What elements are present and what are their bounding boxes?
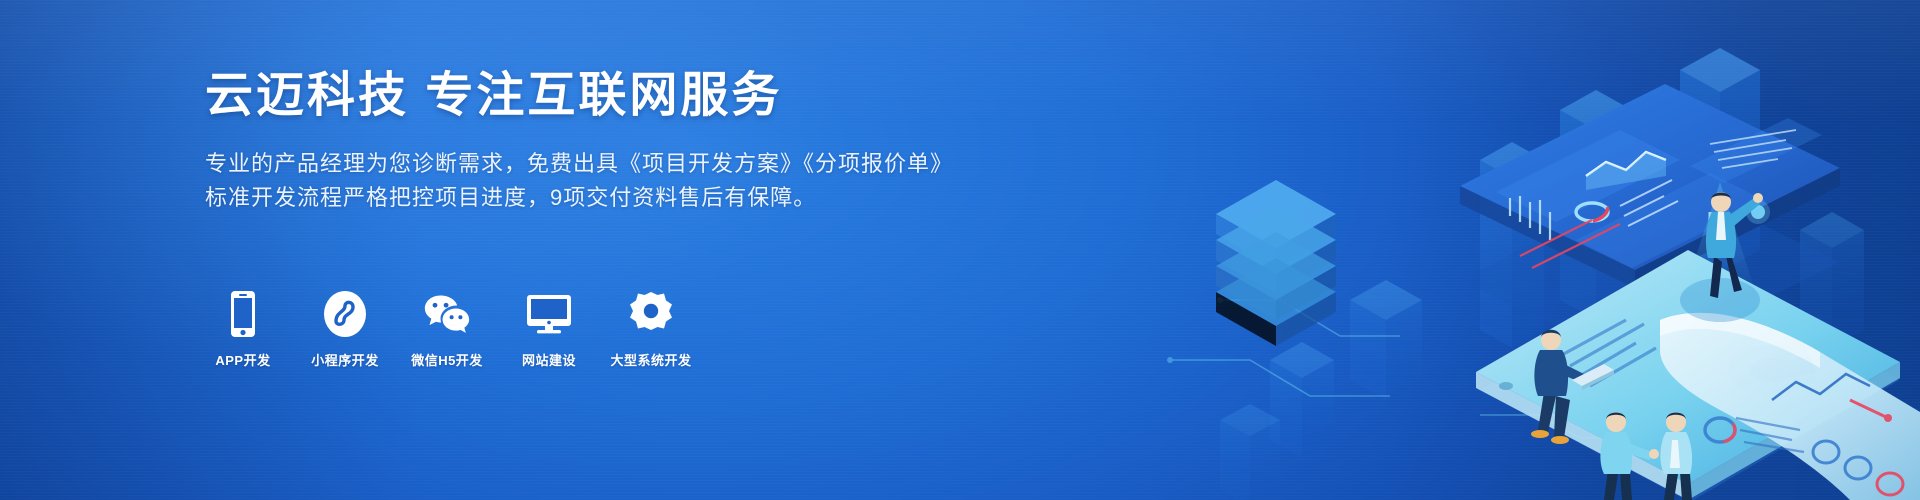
service-item-website[interactable]: 网站建设: [511, 290, 587, 369]
monitor-icon: [525, 290, 573, 338]
circuit-lines: [1167, 152, 1683, 441]
flowing-data-sheet: [1660, 313, 1920, 500]
page-title: 云迈科技 专注互联网服务: [205, 68, 925, 123]
tablet-platform: [1476, 250, 1900, 500]
service-label: 小程序开发: [311, 350, 379, 369]
subtitle-line-2: 标准开发流程严格把控项目进度，9项交付资料售后有保障。: [205, 181, 925, 215]
city-buildings: [1220, 0, 1864, 500]
hero-banner: 云迈科技 专注互联网服务 专业的产品经理为您诊断需求，免费出具《项目开发方案》《…: [0, 0, 1920, 500]
standing-person: [1680, 182, 1763, 322]
service-list: APP开发 小程序开发 微信: [205, 290, 689, 369]
service-label: 大型系统开发: [611, 350, 692, 369]
banner-subtitle: 专业的产品经理为您诊断需求，免费出具《项目开发方案》《分项报价单》 标准开发流程…: [205, 147, 925, 215]
banner-copy: 云迈科技 专注互联网服务 专业的产品经理为您诊断需求，免费出具《项目开发方案》《…: [205, 68, 925, 215]
seated-person-with-laptop: [1531, 330, 1614, 444]
subtitle-line-1: 专业的产品经理为您诊断需求，免费出具《项目开发方案》《分项报价单》: [205, 147, 925, 181]
service-label: 网站建设: [522, 350, 576, 369]
mini-program-icon: [321, 290, 369, 338]
service-item-wechat-h5[interactable]: 微信H5开发: [409, 290, 485, 369]
isometric-illustration: [920, 0, 1920, 500]
gear-icon: [627, 290, 675, 338]
service-label: APP开发: [215, 350, 270, 369]
wechat-icon: [423, 290, 471, 338]
service-item-app[interactable]: APP开发: [205, 290, 281, 369]
service-item-large-system[interactable]: 大型系统开发: [613, 290, 689, 369]
dashboard-screen: [1460, 84, 1840, 364]
service-item-miniprogram[interactable]: 小程序开发: [307, 290, 383, 369]
server-stack: [1216, 180, 1336, 346]
service-label: 微信H5开发: [411, 350, 483, 369]
mobile-phone-icon: [219, 290, 267, 338]
two-people-talking: [1600, 412, 1692, 500]
